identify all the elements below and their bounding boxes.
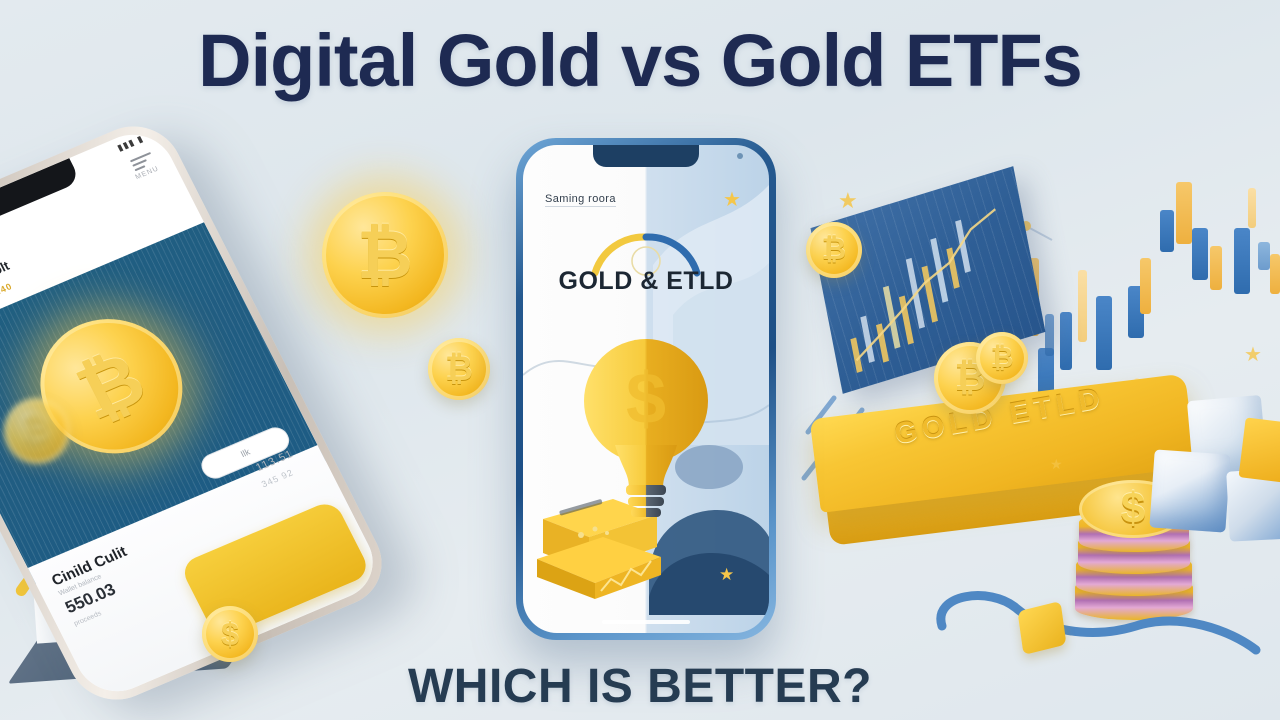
bitcoin-coin: ₿ — [806, 222, 862, 278]
star-icon: ★ — [719, 565, 734, 585]
page-title: Digital Gold vs Gold ETFs — [0, 18, 1280, 103]
candle-bar — [1160, 210, 1174, 252]
blue-ribbon — [930, 578, 1270, 668]
star-icon: ★ — [1050, 456, 1063, 473]
candle-bar — [1078, 270, 1087, 342]
bitcoin-coin: ₿ — [428, 338, 490, 400]
cube-block — [1239, 417, 1280, 482]
star-icon: ★ — [723, 187, 741, 212]
home-indicator — [602, 620, 690, 624]
dollar-coin: $ — [202, 606, 258, 662]
app-brand: Saming roora — [545, 193, 616, 207]
candle-bar — [1210, 246, 1222, 290]
candle-bar — [1234, 228, 1250, 294]
svg-text:$: $ — [626, 359, 666, 439]
candle-bar — [1258, 242, 1270, 270]
star-icon: ★ — [838, 188, 858, 214]
center-phone-heading: GOLD & ETLD — [523, 267, 769, 296]
status-icons: ▮▮▮ ▮ — [115, 133, 145, 153]
lightbulb-icon: $ — [579, 323, 713, 533]
poster-canvas: GOLD ETLD $ ₿ ₿ ₿ ★ ★ ★ — [0, 0, 1280, 720]
candle-bar — [1192, 228, 1208, 280]
bitcoin-coin: ₿ — [322, 192, 448, 318]
cube-block — [1149, 449, 1230, 532]
candle-bar — [1176, 182, 1192, 244]
notch — [593, 145, 699, 167]
bitcoin-coin: ₿ — [976, 332, 1028, 384]
center-phone-mockup: Saming roora GOLD & ETLD — [516, 138, 776, 640]
star-icon: ★ — [1244, 342, 1262, 367]
candle-bar — [1096, 296, 1112, 370]
camera-icon — [737, 153, 743, 159]
candle-bar — [1045, 314, 1054, 356]
center-phone-screen: Saming roora GOLD & ETLD — [523, 145, 769, 633]
candle-bar — [1140, 258, 1151, 314]
candle-bar — [1270, 254, 1280, 294]
candle-bar — [1248, 188, 1256, 228]
candle-bar — [1060, 312, 1072, 370]
page-subtitle: WHICH IS BETTER? — [0, 659, 1280, 714]
bitcoin-coin: ₿ — [4, 398, 70, 464]
